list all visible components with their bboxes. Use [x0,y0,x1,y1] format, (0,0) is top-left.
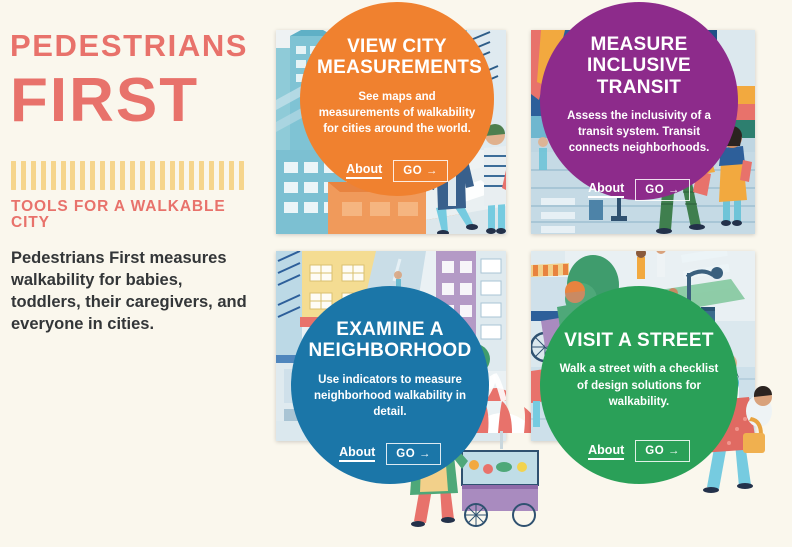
rule-tick [140,161,145,190]
rule-tick [229,161,234,190]
rule-tick [31,161,36,190]
card-bubble-measure-inclusive-transit[interactable]: MEASURE INCLUSIVE TRANSIT Assess the inc… [540,2,738,200]
rule-tick [21,161,26,190]
card-description: Use indicators to measure neighborhood w… [310,372,470,421]
rule-tick [110,161,115,190]
about-link[interactable]: About [339,445,375,462]
card-actions: About GO → [339,443,441,465]
brand-panel: PEDESTRIANS FIRST TOOLS FOR A WALKABLE C… [0,0,262,547]
intro-paragraph: Pedestrians First measures walkability f… [11,248,249,336]
decorative-tick-rule [11,161,244,190]
card-examine-a-neighborhood[interactable]: EXAMINE A NEIGHBORHOOD Use indicators to… [276,251,506,441]
card-actions: About GO → [588,179,690,201]
rule-tick [130,161,135,190]
go-button[interactable]: GO → [393,160,448,182]
go-button[interactable]: GO → [386,443,441,465]
card-actions: About GO → [588,440,690,462]
rule-tick [239,161,244,190]
about-link[interactable]: About [346,162,382,179]
rule-tick [209,161,214,190]
card-visit-a-street[interactable]: VISIT A STREET Walk a street with a chec… [531,251,755,441]
rule-tick [160,161,165,190]
rule-tick [170,161,175,190]
rule-tick [179,161,184,190]
card-bubble-visit-a-street[interactable]: VISIT A STREET Walk a street with a chec… [540,286,738,484]
rule-tick [90,161,95,190]
page-root: PEDESTRIANS FIRST TOOLS FOR A WALKABLE C… [0,0,792,547]
rule-tick [70,161,75,190]
about-link[interactable]: About [588,181,624,198]
rule-tick [189,161,194,190]
rule-tick [61,161,66,190]
wordmark-line-1: PEDESTRIANS [10,30,255,61]
card-title: VISIT A STREET [549,330,729,351]
rule-tick [11,161,16,190]
go-button[interactable]: GO → [635,179,690,201]
card-measure-inclusive-transit[interactable]: MEASURE INCLUSIVE TRANSIT Assess the inc… [531,30,755,234]
rule-tick [80,161,85,190]
go-button[interactable]: GO → [635,440,690,462]
card-description: Assess the inclusivity of a transit syst… [560,108,718,157]
card-view-city-measurements[interactable]: VIEW CITY MEASUREMENTS See maps and meas… [276,30,506,234]
wordmark-line-2: FIRST [10,70,255,132]
rule-tick [219,161,224,190]
card-title: EXAMINE A NEIGHBORHOOD [301,319,479,362]
rule-tick [199,161,204,190]
card-description: Walk a street with a checklist of design… [555,361,723,410]
card-bubble-view-city-measurements[interactable]: VIEW CITY MEASUREMENTS See maps and meas… [300,2,494,196]
card-title: MEASURE INCLUSIVE TRANSIT [552,34,726,98]
card-title: VIEW CITY MEASUREMENTS [317,36,477,79]
rule-tick [120,161,125,190]
card-description: See maps and measurements of walkability… [317,89,477,138]
rule-tick [41,161,46,190]
about-link[interactable]: About [588,443,624,460]
rule-tick [51,161,56,190]
card-actions: About GO → [346,160,448,182]
card-bubble-examine-a-neighborhood[interactable]: EXAMINE A NEIGHBORHOOD Use indicators to… [291,286,489,484]
rule-tick [100,161,105,190]
brand-tagline: TOOLS FOR A WALKABLE CITY [11,199,261,230]
rule-tick [150,161,155,190]
